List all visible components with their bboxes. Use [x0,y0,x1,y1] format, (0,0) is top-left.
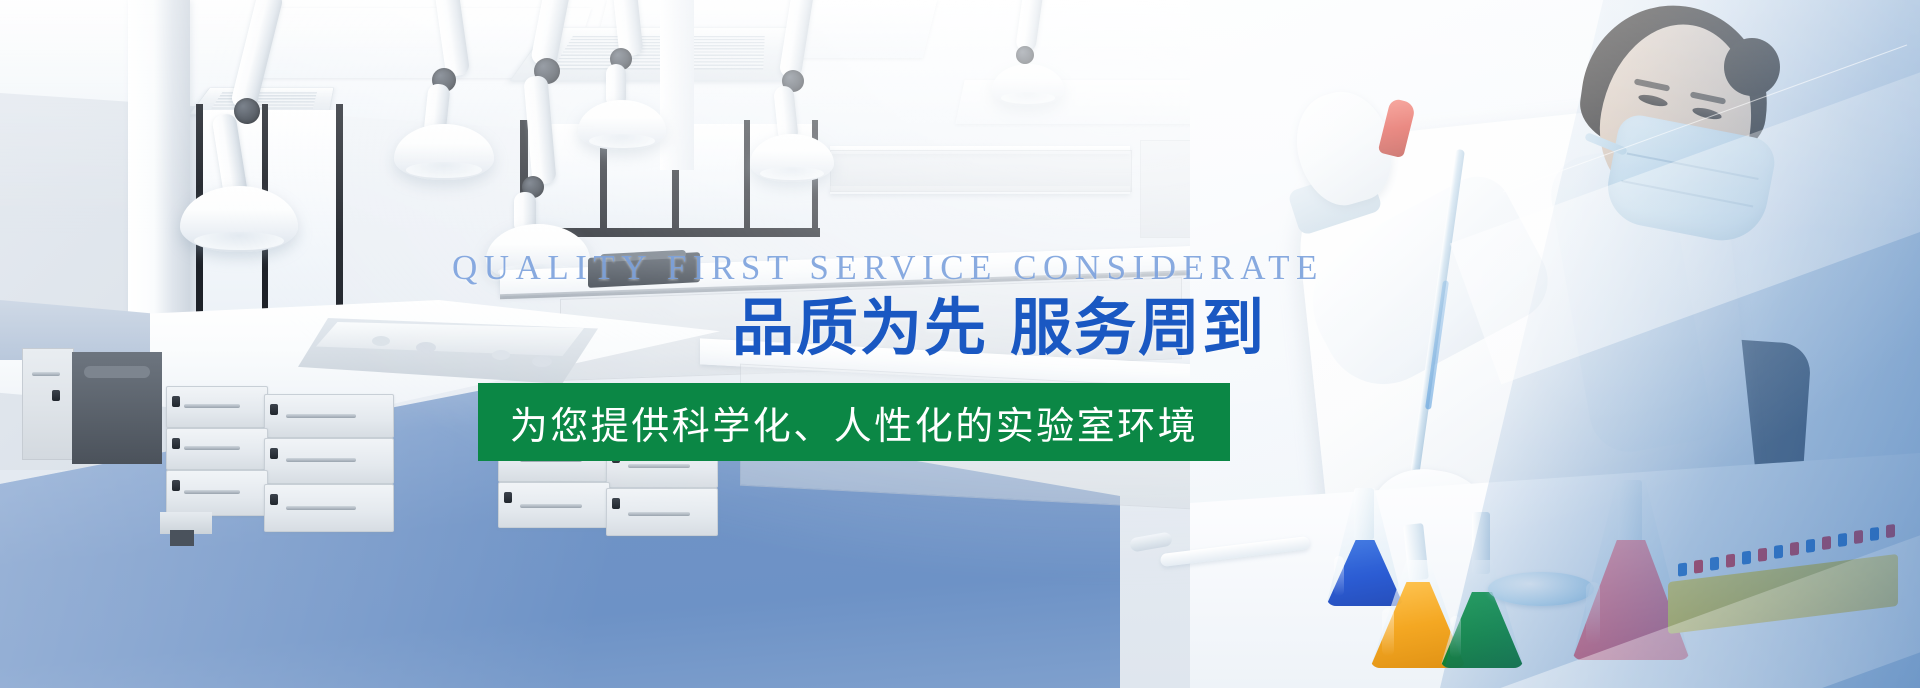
banner-subtitle-bar: 为您提供科学化、人性化的实验室环境 [478,383,1230,461]
banner-eyebrow-text: QUALITY FIRST SERVICE CONSIDERATE [452,248,1324,288]
headline-part-1: 品质为先 [732,294,988,363]
hero-banner: QUALITY FIRST SERVICE CONSIDERATE 品质为先服务… [0,0,1920,688]
banner-subtitle-text: 为您提供科学化、人性化的实验室环境 [510,395,1199,450]
headline-part-2: 服务周到 [1010,294,1266,363]
banner-copy: QUALITY FIRST SERVICE CONSIDERATE 品质为先服务… [0,0,1920,688]
banner-headline: 品质为先服务周到 [732,298,1266,360]
